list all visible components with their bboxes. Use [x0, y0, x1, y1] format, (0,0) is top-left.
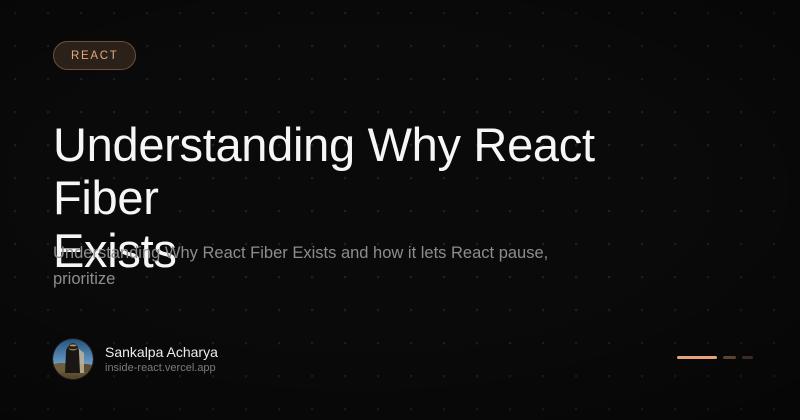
- page-subtitle-line-2: prioritize: [53, 266, 613, 292]
- progress-bar-1[interactable]: [677, 356, 717, 359]
- progress-bar-3[interactable]: [742, 356, 753, 359]
- author-site-url: inside-react.vercel.app: [105, 362, 218, 375]
- page-subtitle: Understanding Why React Fiber Exists and…: [53, 240, 613, 292]
- category-badge-label: REACT: [71, 50, 118, 62]
- author-text: Sankalpa Acharya inside-react.vercel.app: [105, 344, 218, 375]
- category-badge-react[interactable]: REACT: [53, 41, 136, 70]
- author-name: Sankalpa Acharya: [105, 344, 218, 360]
- article-preview-card: REACT Understanding Why React Fiber Exis…: [0, 0, 800, 420]
- page-subtitle-line-1: Understanding Why React Fiber Exists and…: [53, 240, 613, 266]
- progress-bar-2[interactable]: [723, 356, 736, 359]
- author-block[interactable]: Sankalpa Acharya inside-react.vercel.app: [53, 339, 218, 379]
- page-title-line-1: Understanding Why React Fiber: [53, 118, 713, 224]
- avatar: [53, 339, 93, 379]
- card-content: REACT Understanding Why React Fiber Exis…: [53, 0, 753, 420]
- carousel-progress-indicator[interactable]: [677, 356, 753, 359]
